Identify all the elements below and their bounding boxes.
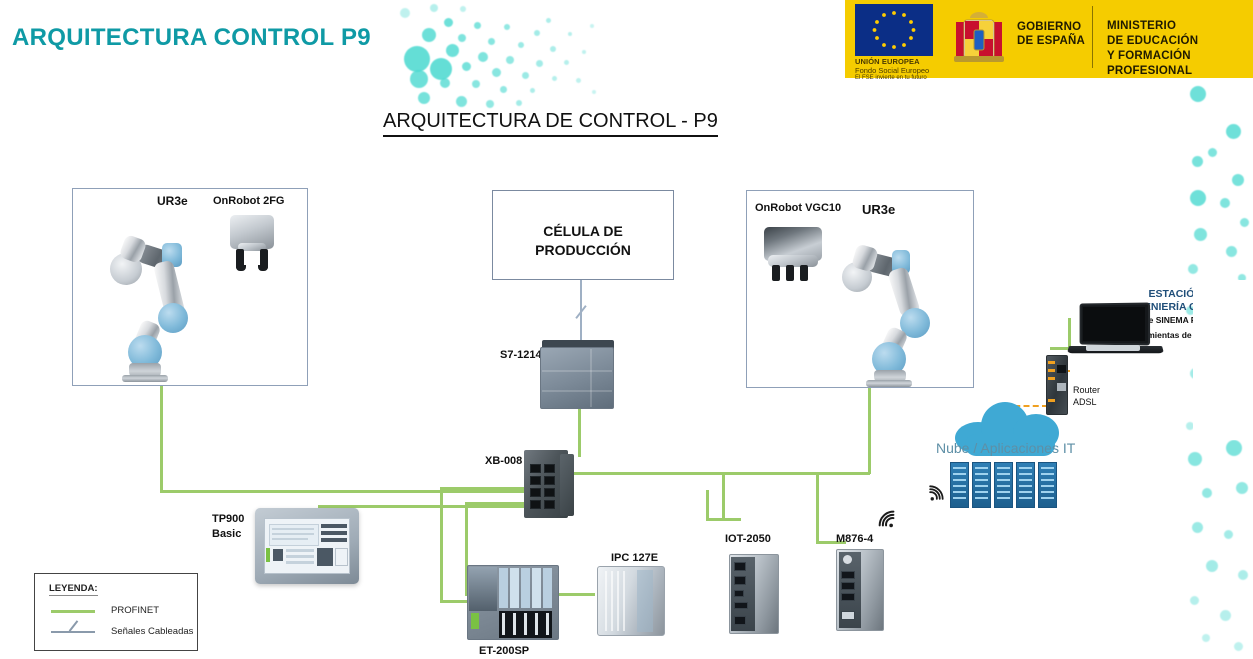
decorative-dot <box>576 78 581 83</box>
decorative-dot <box>430 58 452 80</box>
decorative-dot <box>550 46 556 52</box>
hmi-tp900-image <box>255 508 359 584</box>
decorative-dot <box>460 6 466 12</box>
eu-flag-icon <box>855 4 933 56</box>
router-line1: Router <box>1073 385 1100 397</box>
ipc-127e-image <box>597 566 665 636</box>
legend-label-wired: Señales Cableadas <box>111 626 193 637</box>
decorative-dot <box>1220 610 1231 621</box>
right-white-panel <box>1193 280 1253 440</box>
decorative-dot <box>506 56 514 64</box>
eu-caption-line2: Fondo Social Europeo <box>855 66 947 75</box>
diagram-title: ARQUITECTURA DE CONTROL - P9 <box>383 110 718 137</box>
decorative-dot <box>472 80 480 88</box>
decorative-dot <box>410 70 428 88</box>
decorative-dot <box>1202 634 1210 642</box>
decorative-dot <box>534 30 540 36</box>
laptop-image <box>1068 303 1163 358</box>
wifi-icon-modem <box>876 508 898 530</box>
decorative-dot <box>504 24 510 30</box>
label-m876-4: M876-4 <box>836 533 873 545</box>
router-line2: ADSL <box>1073 397 1100 409</box>
decorative-dot <box>404 46 430 72</box>
legend-swatch-profinet <box>51 610 95 613</box>
legend-label-profinet: PROFINET <box>111 605 159 616</box>
label-celula-produccion: CÉLULA DE PRODUCCIÓN <box>492 222 674 260</box>
label-et200sp: ET-200SP <box>479 645 529 657</box>
logo-divider <box>1092 6 1093 68</box>
decorative-dot <box>488 38 495 45</box>
legend-title: LEYENDA: <box>49 583 98 596</box>
label-iot-2050: IOT-2050 <box>725 533 771 545</box>
cell-line2: PRODUCCIÓN <box>492 241 674 260</box>
label-ur3e-right: UR3e <box>862 202 895 217</box>
decorative-dot <box>530 88 535 93</box>
spain-coat-of-arms-icon <box>948 8 1010 70</box>
decorative-dot <box>446 44 459 57</box>
decorative-dot <box>590 24 594 28</box>
decorative-dot <box>1220 198 1230 208</box>
legend-swatch-wired <box>51 631 95 633</box>
m876-4-image <box>836 549 884 631</box>
wifi-icon-cloud <box>926 483 946 503</box>
decorative-dot <box>582 50 586 54</box>
decorative-dot <box>440 78 450 88</box>
decorative-dot <box>1202 488 1212 498</box>
decorative-dots-right-bottom <box>1180 430 1253 659</box>
decorative-dot <box>568 32 572 36</box>
hmi-line1: TP900 <box>212 512 244 527</box>
link-robotleft-horizontal <box>160 490 540 493</box>
ministerio-label: MINISTERIO DE EDUCACIÓN Y FORMACIÓN PROF… <box>1107 19 1253 79</box>
link-switch-bus-a <box>540 472 870 475</box>
decorative-dot <box>444 18 453 27</box>
decorative-dot <box>1208 148 1217 157</box>
decorative-dot <box>546 18 551 23</box>
decorative-dot <box>400 8 410 18</box>
slide-canvas: ARQUITECTURA CONTROL P9 UNIÓN EUROPEA Fo… <box>0 0 1253 659</box>
decorative-dot <box>486 100 494 108</box>
decorative-dot <box>418 92 430 104</box>
decorative-dot <box>1226 124 1241 139</box>
page-title: ARQUITECTURA CONTROL P9 <box>12 24 371 52</box>
decorative-dot <box>552 76 557 81</box>
link-iot-horizontal <box>706 518 741 521</box>
et200sp-image <box>467 565 559 640</box>
switch-xb008-image <box>524 450 576 522</box>
cell-line1: CÉLULA DE <box>492 222 674 241</box>
decorative-dot <box>1194 228 1207 241</box>
eu-caption: UNIÓN EUROPEA Fondo Social Europeo El FS… <box>855 57 947 81</box>
decorative-dot <box>492 68 501 77</box>
decorative-dots-top <box>400 0 600 110</box>
decorative-dot <box>522 72 529 79</box>
link-plc-vertical <box>578 405 581 457</box>
decorative-dot <box>422 28 436 42</box>
decorative-dot <box>456 96 467 107</box>
legend-box: LEYENDA: PROFINET Señales Cableadas <box>34 573 198 651</box>
decorative-dot <box>536 60 543 67</box>
decorative-dot <box>1240 218 1249 227</box>
decorative-dot <box>1226 440 1242 456</box>
link-robotleft-vertical <box>160 385 163 493</box>
link-et200-vertical <box>440 487 443 602</box>
decorative-dot <box>1188 264 1198 274</box>
label-ur3e-left: UR3e <box>157 194 188 208</box>
decorative-dot <box>1224 530 1233 539</box>
eu-caption-line1: UNIÓN EUROPEA <box>855 57 947 66</box>
decorative-dot <box>518 42 524 48</box>
funding-logo-bar: UNIÓN EUROPEA Fondo Social Europeo El FS… <box>845 0 1253 78</box>
onrobot-vgc10-gripper-image <box>762 225 826 287</box>
label-onrobot-vgc10: OnRobot VGC10 <box>755 202 841 214</box>
ur3e-robot-left-image <box>100 215 230 380</box>
decorative-dot <box>1192 156 1203 167</box>
decorative-dot <box>1234 642 1243 651</box>
eu-stars-icon <box>855 4 933 56</box>
decorative-dot <box>1232 174 1244 186</box>
decorative-dot <box>516 100 522 106</box>
decorative-dot <box>1190 190 1206 206</box>
decorative-dot <box>1226 246 1237 257</box>
iot-2050-image <box>729 554 779 634</box>
hmi-line2: Basic <box>212 527 244 542</box>
label-tp900-basic: TP900 Basic <box>212 512 244 543</box>
decorative-dot <box>474 22 481 29</box>
decorative-dot <box>458 34 466 42</box>
ur3e-robot-right-image <box>838 220 968 388</box>
router-adsl-image <box>1046 355 1068 415</box>
decorative-dot <box>1206 560 1218 572</box>
decorative-dot <box>500 86 507 93</box>
decorative-dot <box>1190 596 1199 605</box>
decorative-dot <box>1188 452 1202 466</box>
link-iot-vertical-a <box>722 472 725 520</box>
decorative-dot <box>564 60 569 65</box>
decorative-dot <box>430 4 438 12</box>
label-onrobot-2fg: OnRobot 2FG <box>213 195 285 207</box>
server-rack-image <box>950 462 1057 508</box>
plc-s7-1214c-image <box>540 340 616 410</box>
label-nube-aplicaciones-it: Nube / Aplicaciones IT <box>936 440 1075 456</box>
link-iot-vertical-b <box>706 490 709 520</box>
eu-caption-line3: El FSE invierte en tu futuro <box>855 75 947 81</box>
label-xb-008: XB-008 <box>485 455 522 467</box>
decorative-dot <box>1238 570 1248 580</box>
decorative-dot <box>462 62 471 71</box>
onrobot-2fg-gripper-image <box>224 215 280 275</box>
label-ipc-127e: IPC 127E <box>611 552 658 564</box>
label-router-adsl: Router ADSL <box>1073 385 1100 408</box>
decorative-dot <box>478 52 488 62</box>
decorative-dot <box>1192 522 1203 533</box>
gobierno-label: GOBIERNO DE ESPAÑA <box>1017 20 1085 49</box>
link-robotright-vertical <box>868 388 871 474</box>
link-m876-vertical <box>816 472 819 544</box>
decorative-dot <box>1236 482 1248 494</box>
decorative-dot <box>592 90 596 94</box>
decorative-dot <box>1190 86 1206 102</box>
